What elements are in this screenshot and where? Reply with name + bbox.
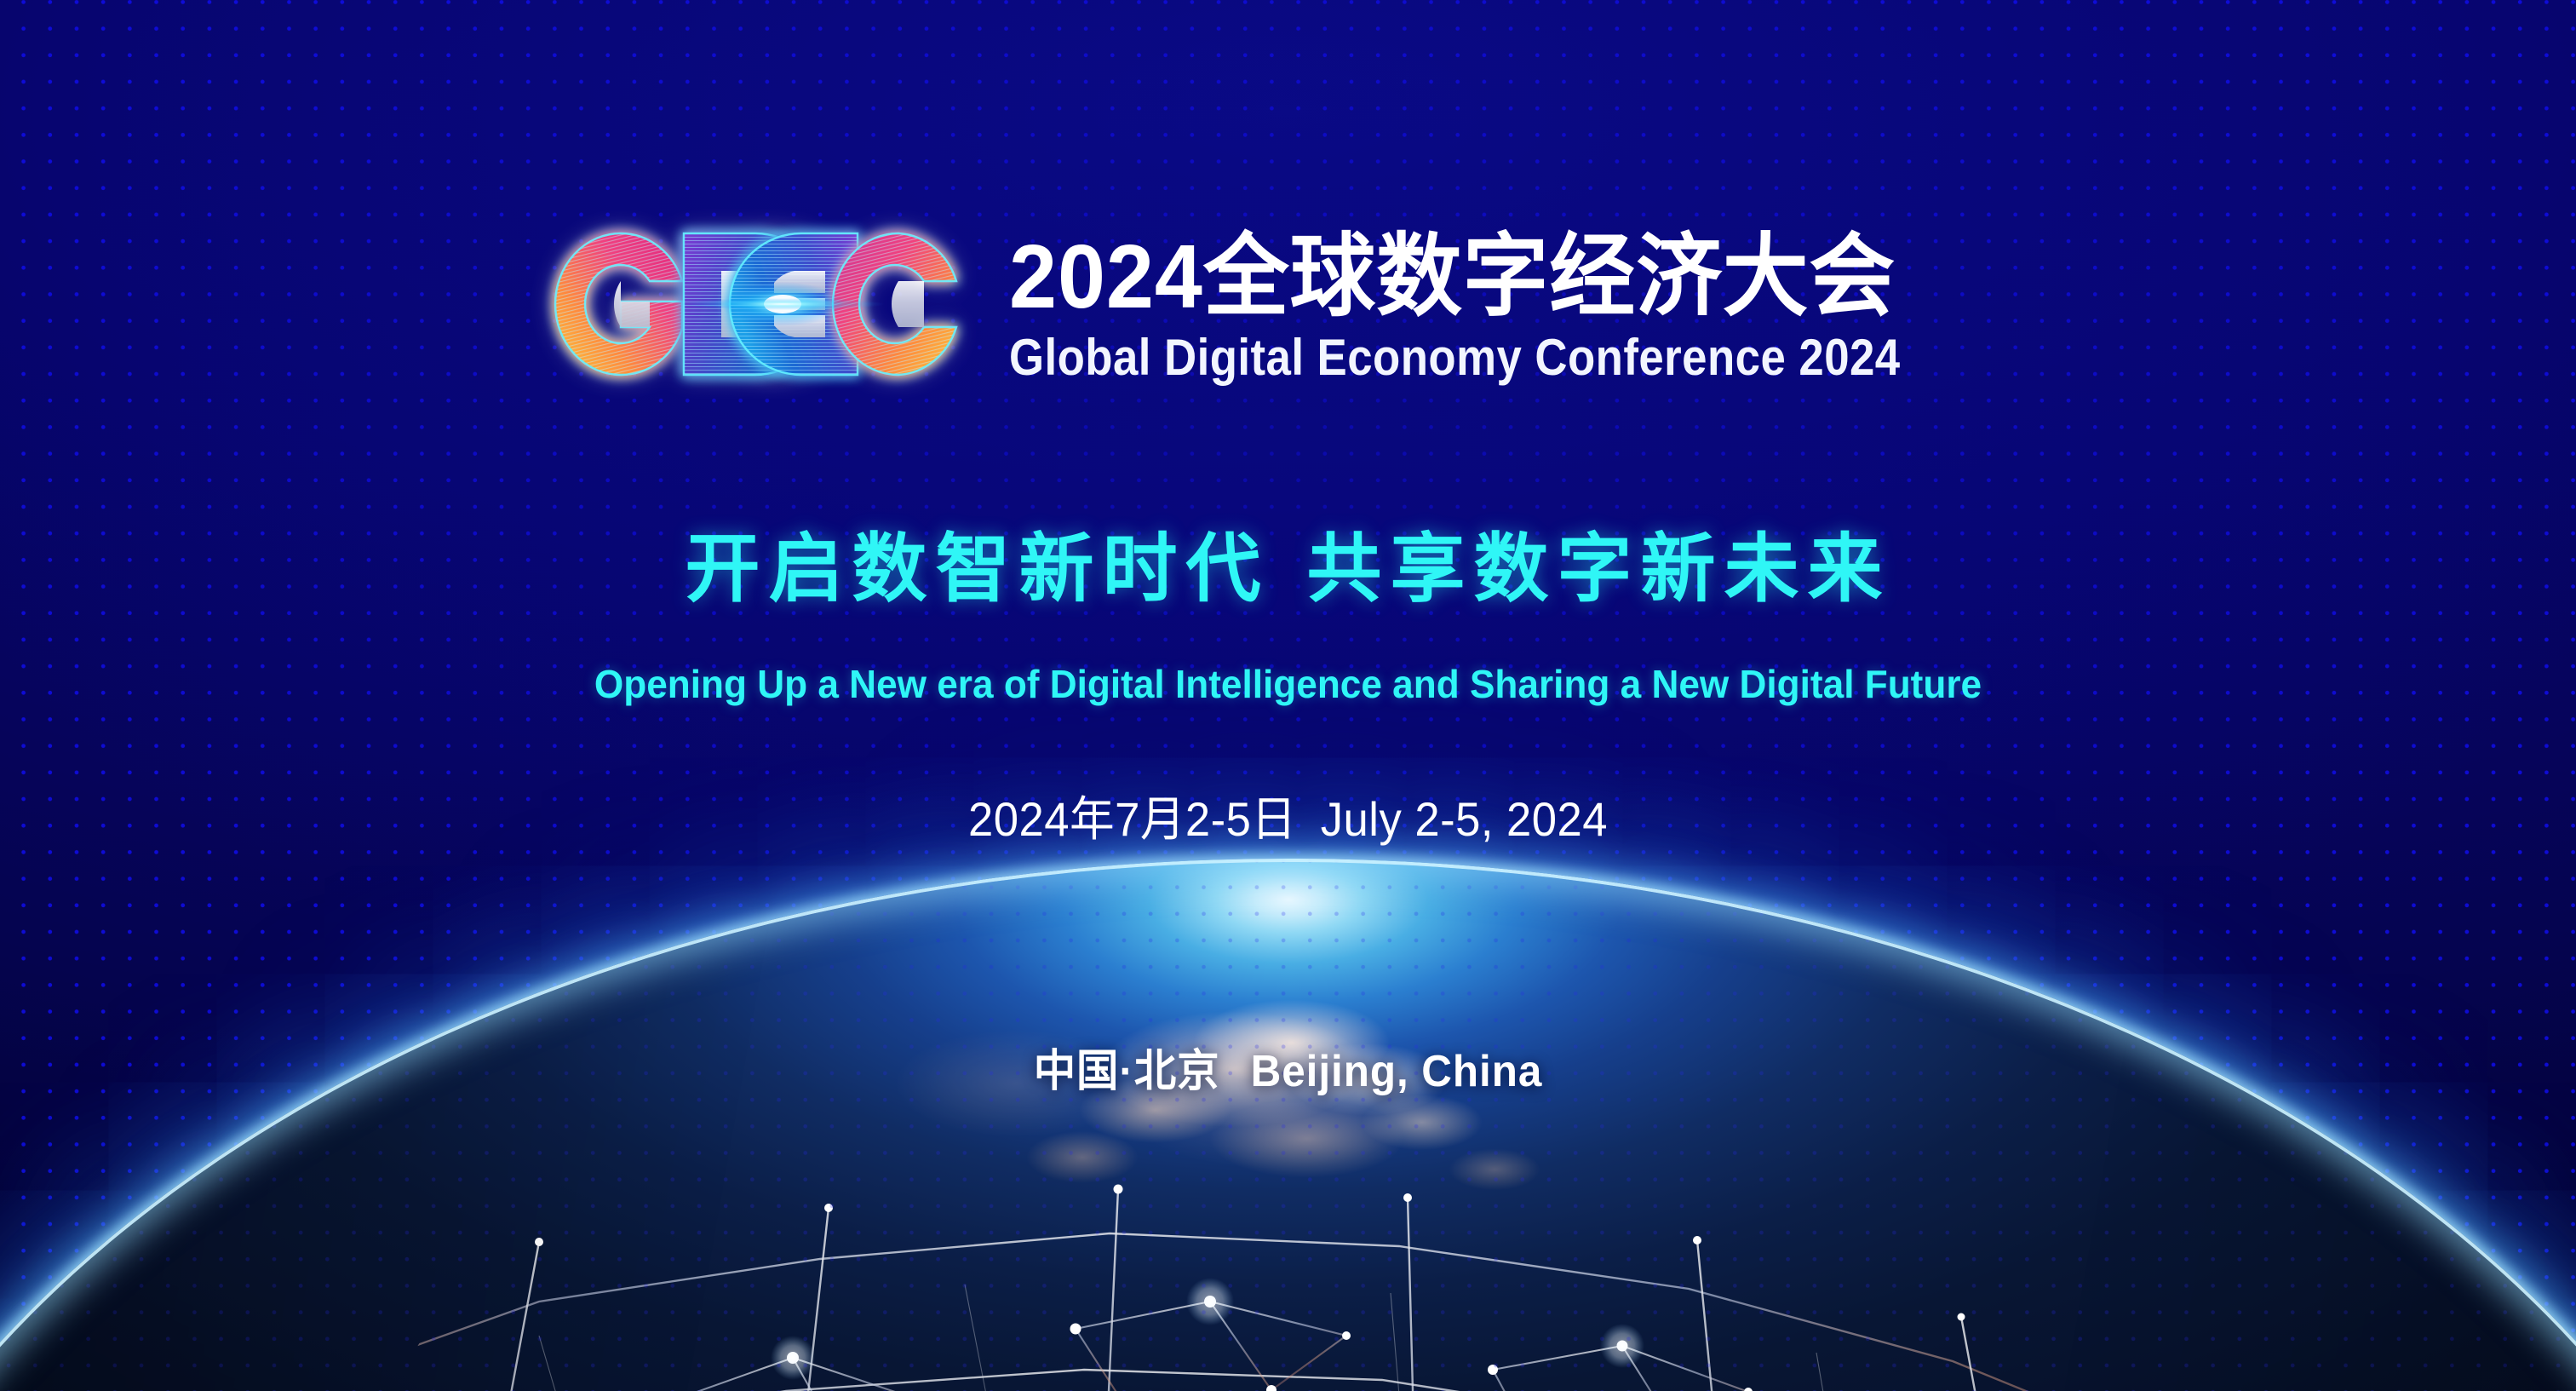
conference-poster: 2024全球数字经济大会 Global Digital Economy Conf…: [0, 0, 2576, 1391]
date-chinese: 2024年7月2-5日: [968, 792, 1297, 846]
slogan-chinese-part2: 共享数字新未来: [1307, 526, 1891, 611]
slogan-chinese: 开启数智新时代共享数字新未来: [0, 532, 2576, 606]
slogan-chinese-part1: 开启数智新时代: [685, 526, 1269, 611]
date-english: July 2-5, 2024: [1321, 792, 1608, 846]
logo-and-title-row: 2024全球数字经济大会 Global Digital Economy Conf…: [0, 228, 2576, 385]
location-chinese: 中国·北京: [1034, 1047, 1220, 1096]
slogan-english: Opening Up a New era of Digital Intellig…: [52, 664, 2525, 704]
title-block: 2024全球数字经济大会 Global Digital Economy Conf…: [1009, 228, 2022, 385]
gdec-logo: [554, 227, 965, 382]
poster-content: 2024全球数字经济大会 Global Digital Economy Conf…: [0, 0, 2576, 1391]
location-line: 中国·北京Beijing, China: [65, 1049, 2512, 1094]
title-english: Global Digital Economy Conference 2024: [1009, 331, 1901, 385]
title-chinese: 2024全球数字经济大会: [1009, 228, 1971, 325]
location-english: Beijing, China: [1251, 1047, 1543, 1096]
date-line: 2024年7月2-5日July 2-5, 2024: [77, 796, 2499, 843]
